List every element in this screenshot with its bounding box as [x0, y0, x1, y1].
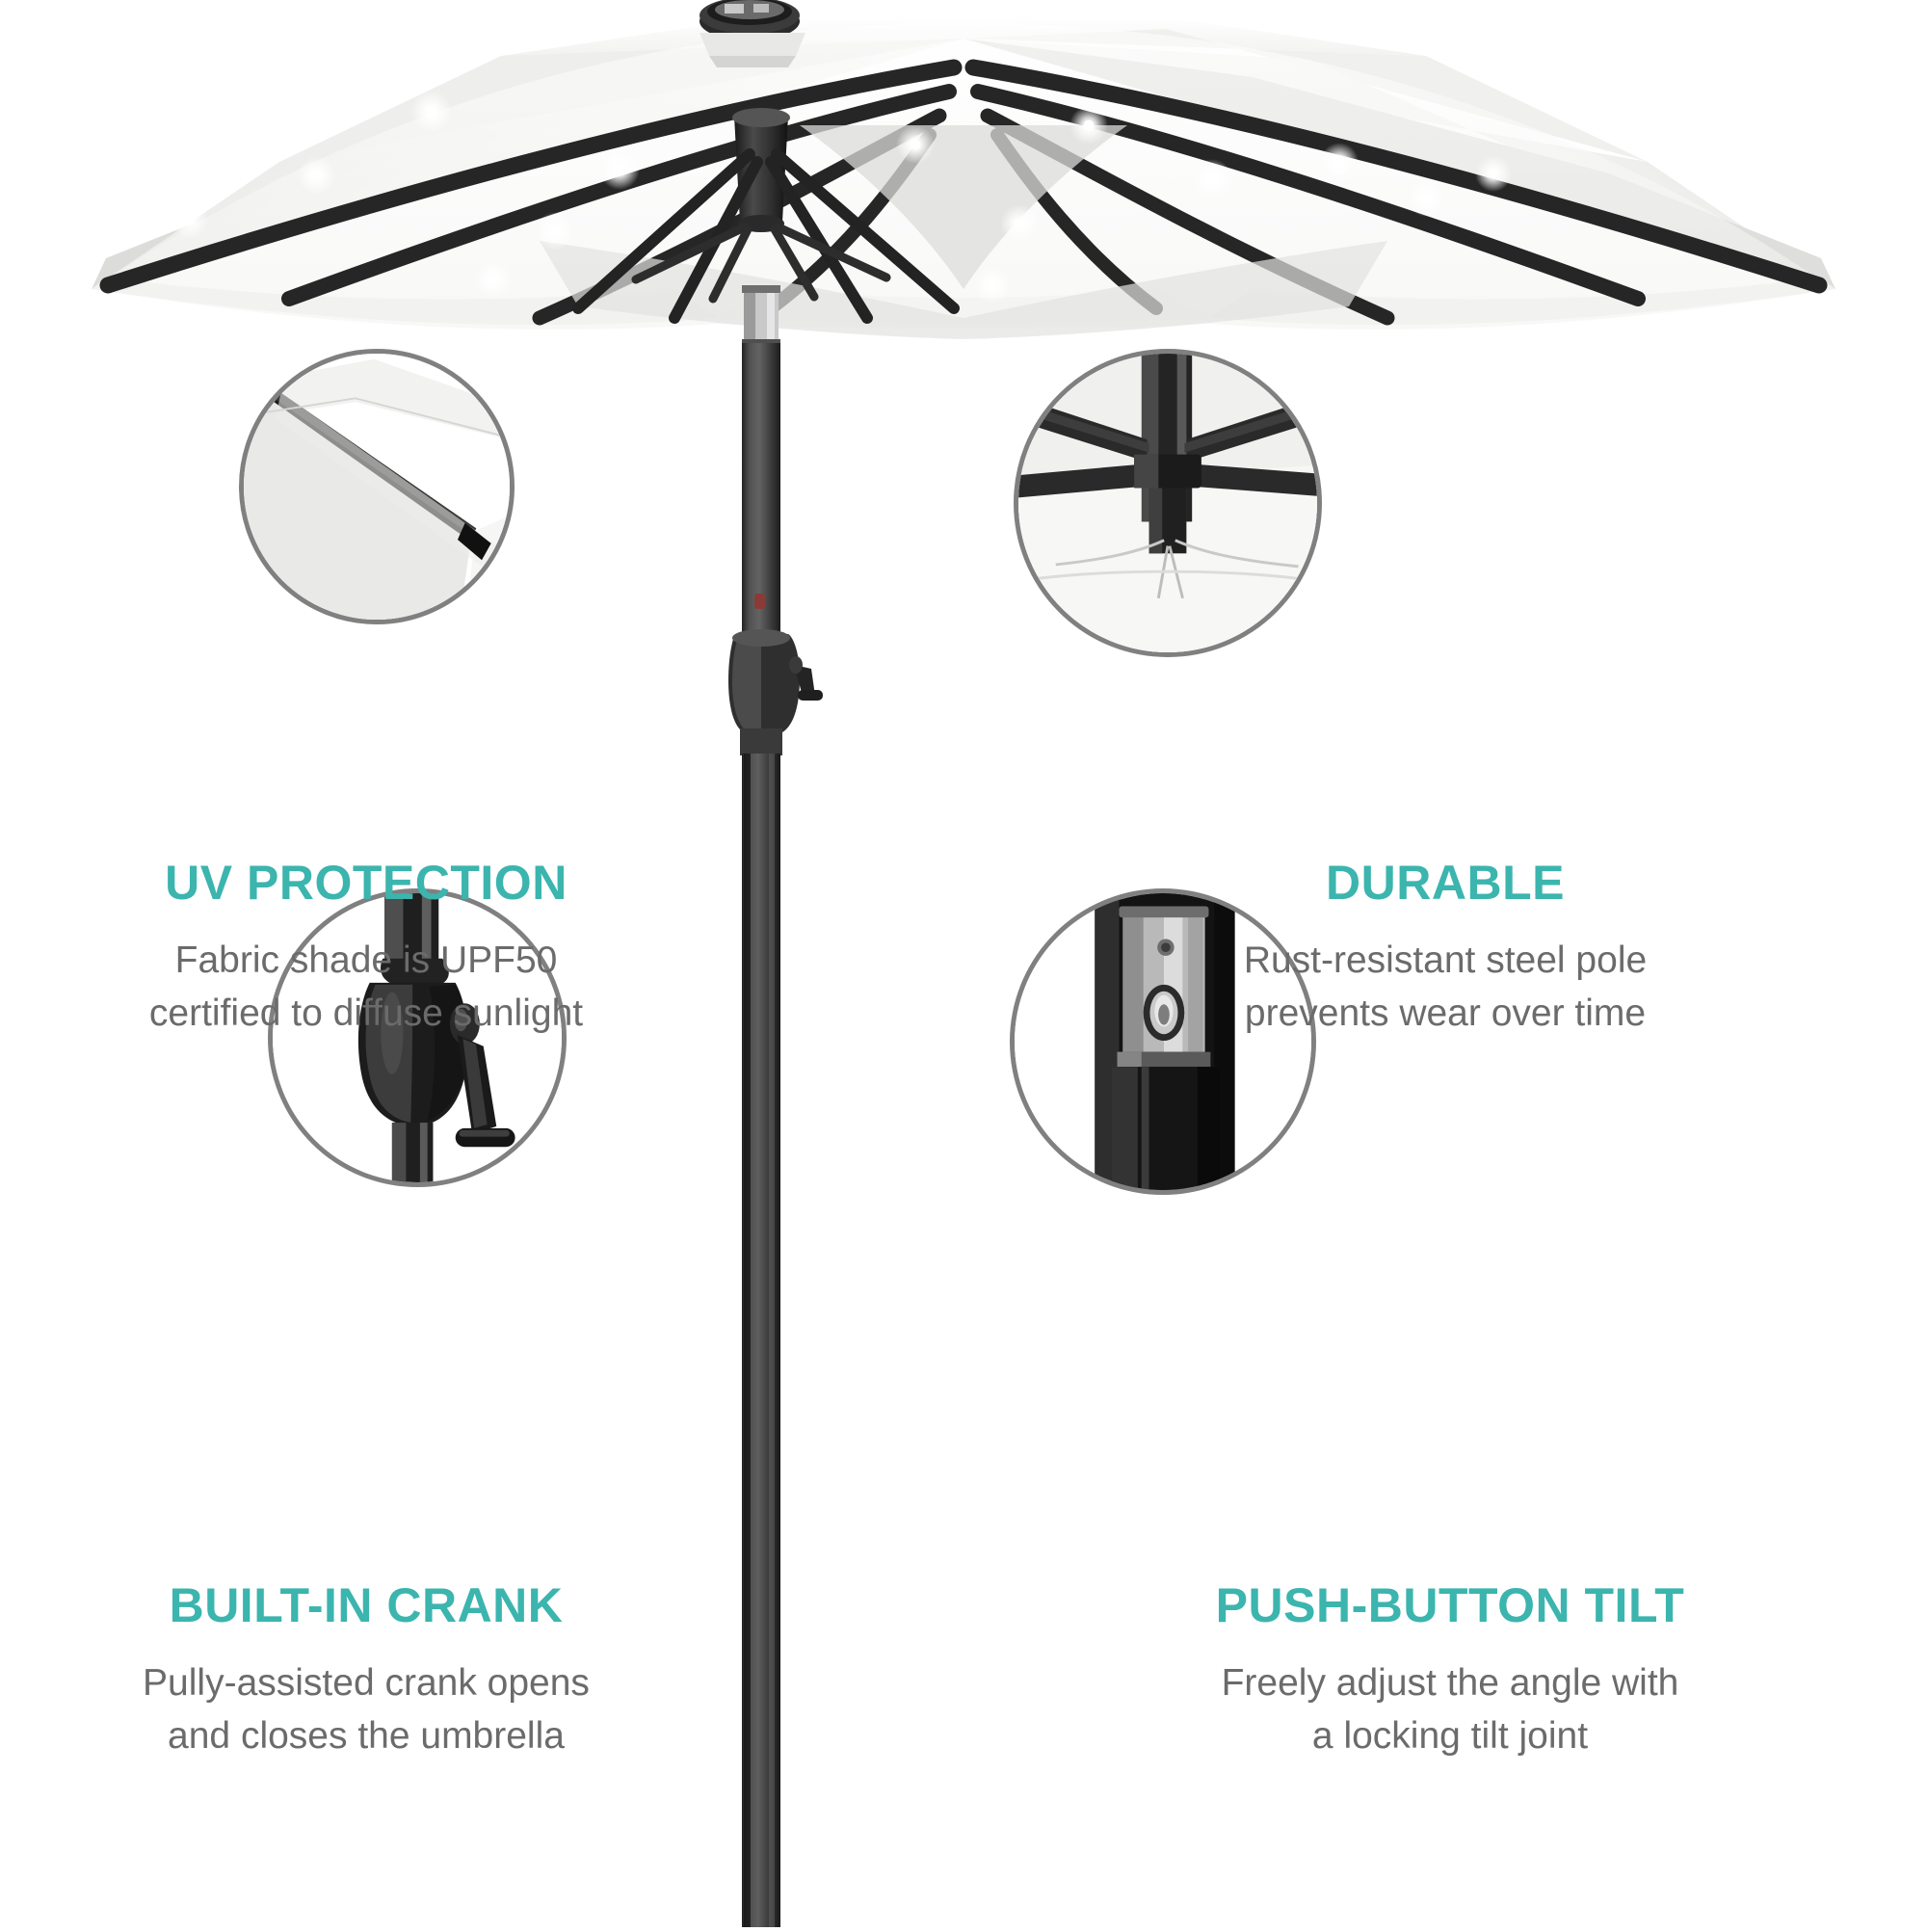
feature-push-button-tilt: PUSH-BUTTON TILT Freely adjust the angle… — [1103, 1580, 1797, 1762]
feature-line2-durable: prevents wear over time — [1245, 992, 1646, 1034]
feature-heading-uv-protection: UV PROTECTION — [29, 858, 703, 909]
feature-heading-durable: DURABLE — [1108, 858, 1782, 909]
solar-housing — [700, 33, 805, 67]
feature-uv-protection: UV PROTECTION Fabric shade is UPF50 cert… — [29, 858, 703, 1040]
feature-line1-push-button-tilt: Freely adjust the angle with — [1222, 1662, 1679, 1704]
feature-heading-built-in-crank: BUILT-IN CRANK — [29, 1580, 703, 1631]
feature-line1-durable: Rust-resistant steel pole — [1244, 940, 1647, 981]
feature-line2-push-button-tilt: a locking tilt joint — [1312, 1715, 1588, 1757]
canopy-fabric-edge-closeup-icon — [244, 354, 510, 620]
feature-durable: DURABLE Rust-resistant steel pole preven… — [1108, 858, 1782, 1040]
inset-durable — [1014, 349, 1322, 657]
feature-built-in-crank: BUILT-IN CRANK Pully-assisted crank open… — [29, 1580, 703, 1762]
feature-line1-built-in-crank: Pully-assisted crank opens — [143, 1662, 590, 1704]
feature-line2-built-in-crank: and closes the umbrella — [168, 1715, 565, 1757]
infographic-canvas: UV PROTECTION Fabric shade is UPF50 cert… — [0, 0, 1927, 1927]
feature-heading-push-button-tilt: PUSH-BUTTON TILT — [1103, 1580, 1797, 1631]
tilt-crank-housing — [728, 629, 823, 732]
feature-line1-uv-protection: Fabric shade is UPF50 — [175, 940, 558, 981]
feature-line2-uv-protection: certified to diffuse sunlight — [149, 992, 583, 1034]
inset-uv-protection — [239, 349, 515, 624]
steel-hub-ribs-closeup-icon — [1018, 354, 1317, 652]
lower-pole — [740, 728, 782, 1927]
upper-pole — [742, 285, 780, 638]
